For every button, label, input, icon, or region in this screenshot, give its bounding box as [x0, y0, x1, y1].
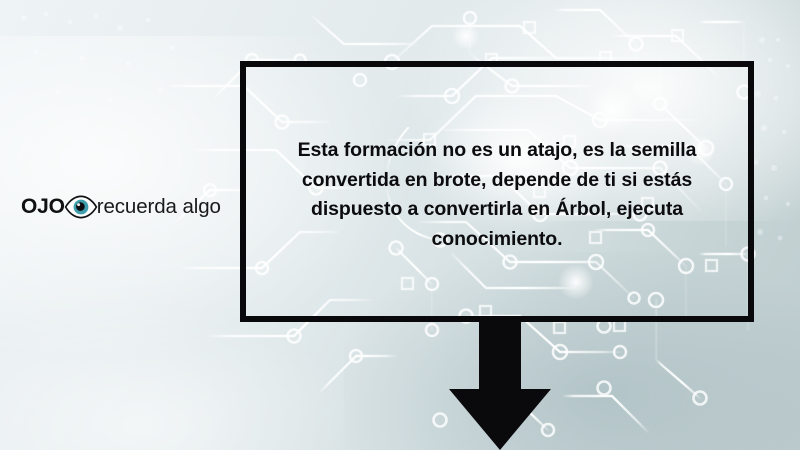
eye-icon — [64, 195, 98, 219]
ojo-caption: OJO recuerda algo — [21, 195, 221, 219]
slide-canvas: Esta formación no es un atajo, es la sem… — [0, 0, 800, 450]
ojo-emphasis-label: OJO — [21, 195, 65, 219]
down-arrow-icon — [448, 321, 552, 450]
message-text: Esta formación no es un atajo, es la sem… — [246, 67, 748, 255]
message-box: Esta formación no es un atajo, es la sem… — [240, 61, 754, 322]
ojo-caption-text: recuerda algo — [97, 195, 221, 219]
